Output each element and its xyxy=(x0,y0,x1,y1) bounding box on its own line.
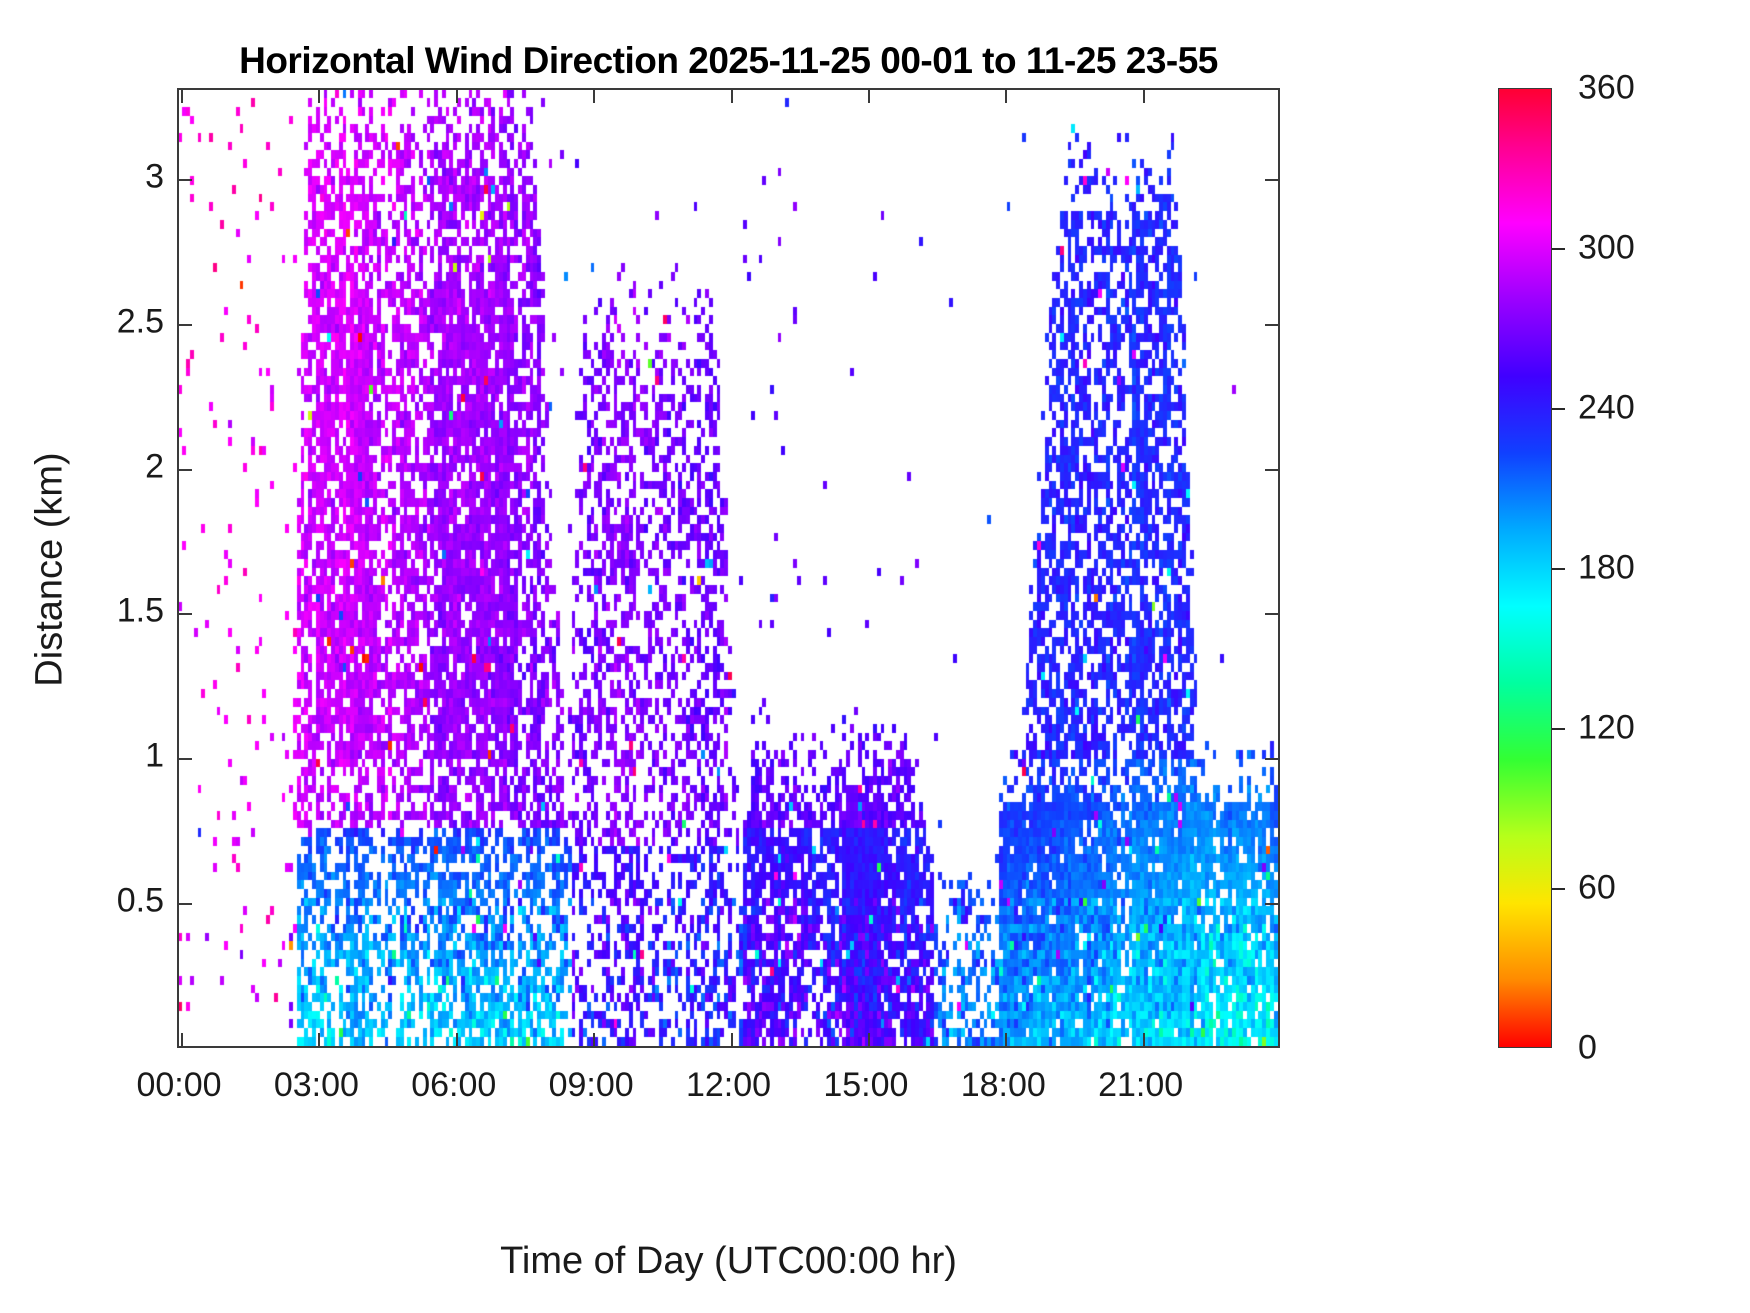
colorbar-tick-label: 240 xyxy=(1578,389,1635,428)
x-tick-bottom xyxy=(1005,1033,1007,1046)
x-tick-top xyxy=(731,90,733,103)
y-tick-right xyxy=(1265,324,1278,326)
x-tick-bottom xyxy=(1143,1033,1145,1046)
colorbar xyxy=(1498,88,1552,1048)
y-tick-left xyxy=(179,758,192,760)
colorbar-tick xyxy=(1552,568,1565,570)
x-tick-bottom xyxy=(868,1033,870,1046)
x-tick-top xyxy=(456,90,458,103)
colorbar-tick-label: 120 xyxy=(1578,709,1635,748)
x-tick-bottom xyxy=(181,1033,183,1046)
y-tick-right xyxy=(1265,903,1278,905)
colorbar-tick-label: 180 xyxy=(1578,549,1635,588)
y-tick-label: 2 xyxy=(145,447,164,486)
y-tick-right xyxy=(1265,469,1278,471)
y-tick-label: 1 xyxy=(145,737,164,776)
colorbar-tick xyxy=(1552,408,1565,410)
x-tick-bottom xyxy=(456,1033,458,1046)
plot-area xyxy=(177,88,1280,1048)
y-tick-label: 3 xyxy=(145,157,164,196)
x-tick-label: 12:00 xyxy=(686,1066,771,1105)
x-tick-label: 15:00 xyxy=(823,1066,908,1105)
y-tick-left xyxy=(179,613,192,615)
y-axis-title: Distance (km) xyxy=(29,270,72,870)
x-tick-label: 06:00 xyxy=(411,1066,496,1105)
colorbar-tick xyxy=(1552,888,1565,890)
chart-root: Horizontal Wind Direction 2025-11-25 00-… xyxy=(0,0,1750,1313)
x-tick-top xyxy=(181,90,183,103)
y-tick-right xyxy=(1265,613,1278,615)
y-tick-right xyxy=(1265,758,1278,760)
x-tick-top xyxy=(318,90,320,103)
heatmap-canvas xyxy=(179,90,1278,1046)
x-tick-bottom xyxy=(318,1033,320,1046)
x-tick-label: 00:00 xyxy=(136,1066,221,1105)
colorbar-tick-label: 360 xyxy=(1578,69,1635,108)
colorbar-tick-label: 300 xyxy=(1578,229,1635,268)
y-tick-label: 2.5 xyxy=(117,302,164,341)
page-title: Horizontal Wind Direction 2025-11-25 00-… xyxy=(177,40,1280,82)
y-tick-left xyxy=(179,324,192,326)
x-tick-label: 21:00 xyxy=(1098,1066,1183,1105)
colorbar-tick-label: 0 xyxy=(1578,1029,1597,1068)
y-tick-label: 1.5 xyxy=(117,592,164,631)
x-tick-top xyxy=(593,90,595,103)
x-tick-top xyxy=(1143,90,1145,103)
y-tick-label: 0.5 xyxy=(117,882,164,921)
colorbar-gradient xyxy=(1498,88,1552,1048)
y-tick-right xyxy=(1265,179,1278,181)
y-tick-left xyxy=(179,469,192,471)
y-tick-left xyxy=(179,179,192,181)
x-tick-label: 09:00 xyxy=(549,1066,634,1105)
x-tick-top xyxy=(868,90,870,103)
colorbar-tick xyxy=(1552,248,1565,250)
x-tick-bottom xyxy=(593,1033,595,1046)
x-tick-bottom xyxy=(731,1033,733,1046)
x-tick-top xyxy=(1005,90,1007,103)
x-tick-label: 18:00 xyxy=(961,1066,1046,1105)
colorbar-tick-label: 60 xyxy=(1578,869,1616,908)
y-tick-left xyxy=(179,903,192,905)
colorbar-tick xyxy=(1552,728,1565,730)
x-axis-title: Time of Day (UTC00:00 hr) xyxy=(177,1240,1280,1283)
x-tick-label: 03:00 xyxy=(274,1066,359,1105)
